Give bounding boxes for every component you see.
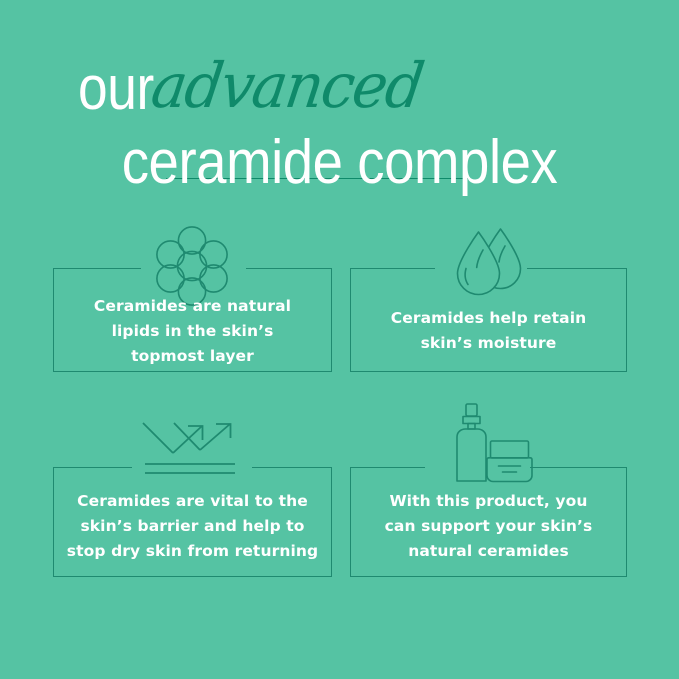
headline-line-1: our advanced bbox=[0, 52, 679, 124]
info-card-ceramides-natural-lipids: Ceramides are natural lipids in the skin… bbox=[53, 268, 332, 372]
barrier-deflect-arrows-icon bbox=[139, 417, 247, 483]
headline-line-2: ceramide complex bbox=[0, 132, 679, 194]
card-text-line: stop dry skin from returning bbox=[53, 539, 332, 564]
card-text-line: Ceramides are vital to the bbox=[53, 489, 332, 514]
card-text-line: natural ceramides bbox=[350, 539, 627, 564]
card-text: Ceramides are natural lipids in the skin… bbox=[53, 294, 332, 369]
headline-word-our: our bbox=[78, 58, 154, 120]
headline-line-2-text: ceramide complex bbox=[122, 132, 558, 194]
card-text-line: Ceramides are natural bbox=[53, 294, 332, 319]
card-text: Ceramides are vital to the skin’s barrie… bbox=[53, 489, 332, 564]
info-card-support-natural-ceramides: With this product, you can support your … bbox=[350, 467, 627, 577]
card-text-line: topmost layer bbox=[53, 344, 332, 369]
info-card-skin-barrier: Ceramides are vital to the skin’s barrie… bbox=[53, 467, 332, 577]
water-droplets-icon bbox=[451, 224, 526, 304]
card-text-line: skin’s moisture bbox=[350, 331, 627, 356]
bottle-and-jar-icon bbox=[437, 403, 540, 485]
card-text: Ceramides help retain skin’s moisture bbox=[350, 306, 627, 356]
card-text-line: can support your skin’s bbox=[350, 514, 627, 539]
card-text-line: lipids in the skin’s bbox=[53, 319, 332, 344]
card-text-line: With this product, you bbox=[350, 489, 627, 514]
infographic-poster: our advanced ceramide complex Ceramides … bbox=[0, 0, 679, 679]
card-text-line: skin’s barrier and help to bbox=[53, 514, 332, 539]
headline-word-advanced: advanced bbox=[147, 52, 426, 120]
card-text: With this product, you can support your … bbox=[350, 489, 627, 564]
card-text-line: Ceramides help retain bbox=[350, 306, 627, 331]
info-card-retain-moisture: Ceramides help retain skin’s moisture bbox=[350, 268, 627, 372]
